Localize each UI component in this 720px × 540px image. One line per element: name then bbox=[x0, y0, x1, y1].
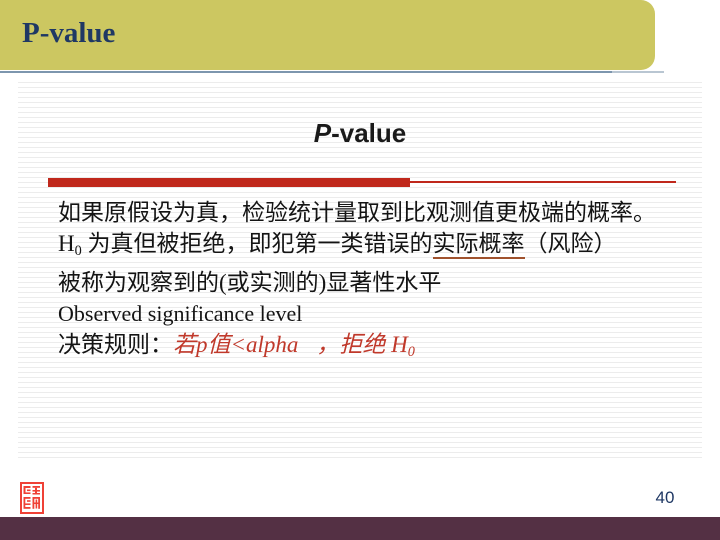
paragraph-observed-level-en: Observed significance level bbox=[58, 298, 688, 329]
paragraph-observed-level-cn: 被称为观察到的(或实测的)显著性水平 bbox=[58, 267, 688, 298]
decision-rule-part1: 若 bbox=[173, 332, 196, 357]
content-heading-italic-p: P bbox=[314, 118, 331, 148]
content-heading-rest: -value bbox=[331, 118, 406, 148]
body-text-block: 如果原假设为真，检验统计量取到比观测值更极端的概率。 H0 为真但被拒绝，即犯第… bbox=[58, 198, 688, 368]
paragraph-definition-text: 如果原假设为真，检验统计量取到比观测值更极端的概率。 bbox=[58, 200, 656, 225]
page-number: 40 bbox=[645, 488, 685, 508]
footer-bar bbox=[0, 517, 720, 540]
decision-rule-part3: ，拒绝 bbox=[316, 332, 391, 357]
header-divider-line bbox=[0, 71, 612, 73]
page-title: P-value bbox=[22, 17, 115, 50]
decision-rule-part2: 值<alpha bbox=[208, 332, 299, 357]
paragraph-definition: 如果原假设为真，检验统计量取到比观测值更极端的概率。 bbox=[58, 198, 688, 228]
decision-rule-h-symbol: H bbox=[391, 332, 408, 357]
red-divider-thick bbox=[48, 178, 410, 187]
slide-canvas: P-value P-value 如果原假设为真，检验统计量取到比观测值更极端的概… bbox=[0, 0, 720, 540]
decision-rule-p-symbol: p bbox=[196, 332, 208, 357]
decision-rule-expression: 若p值<alpha，拒绝 H0 bbox=[173, 332, 415, 357]
seal-stamp-icon bbox=[20, 482, 44, 514]
paragraph-decision-rule: 决策规则：若p值<alpha，拒绝 H0 bbox=[58, 329, 688, 368]
paragraph-type-one-error: H0 为真但被拒绝，即犯第一类错误的实际概率（风险） bbox=[58, 229, 688, 266]
underlined-emphasis: 实际概率 bbox=[433, 231, 525, 259]
decision-rule-h-subscript: 0 bbox=[408, 344, 415, 360]
type-one-error-text-after: （风险） bbox=[525, 231, 617, 256]
content-heading: P-value bbox=[0, 118, 720, 149]
type-one-error-text-before: 为真但被拒绝，即犯第一类错误的 bbox=[82, 231, 433, 256]
seal-glyph-icon bbox=[22, 484, 42, 512]
decision-rule-label: 决策规则： bbox=[58, 332, 173, 357]
red-divider-thin bbox=[410, 181, 676, 183]
h-null-subscript: 0 bbox=[75, 243, 82, 259]
header-divider-line-secondary bbox=[612, 71, 664, 73]
h-null-symbol: H bbox=[58, 231, 75, 256]
